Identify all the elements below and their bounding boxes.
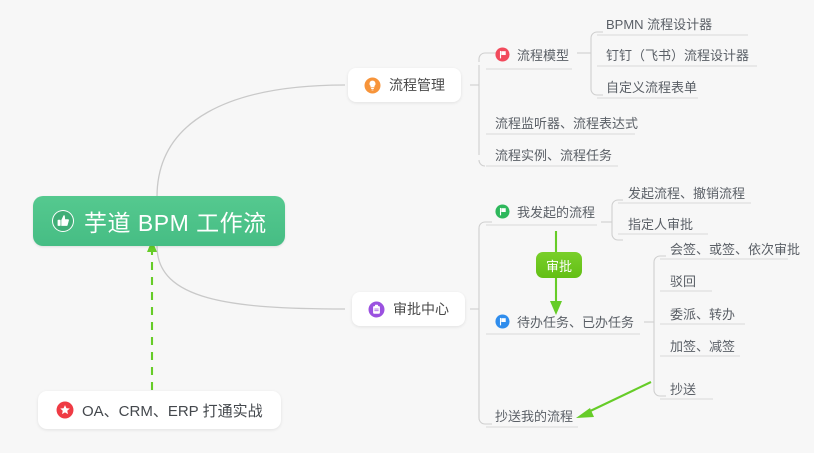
label-add-remove-sign: 加签、减签 bbox=[670, 336, 735, 355]
label-listener-expression: 流程监听器、流程表达式 bbox=[495, 113, 638, 132]
leaf-dingtalk-feishu-designer[interactable]: 钉钉（飞书）流程设计器 bbox=[600, 43, 755, 68]
branch-node-approval-center[interactable]: 审批中心 bbox=[352, 292, 465, 326]
flag-icon-green bbox=[495, 204, 510, 219]
flag-icon-red bbox=[495, 47, 510, 62]
label-reject: 驳回 bbox=[670, 271, 696, 290]
label-delegate-transfer: 委派、转办 bbox=[670, 304, 735, 323]
clipboard-icon bbox=[368, 301, 385, 318]
node-process-model[interactable]: 流程模型 bbox=[489, 43, 575, 68]
label-cc-to-me-process: 抄送我的流程 bbox=[495, 406, 573, 425]
standalone-label-integration-practice: OA、CRM、ERP 打通实战 bbox=[82, 400, 263, 421]
root-node[interactable]: 芋道 BPM 工作流 bbox=[33, 196, 285, 246]
leaf-reject[interactable]: 驳回 bbox=[664, 269, 702, 294]
leaf-cc[interactable]: 抄送 bbox=[664, 377, 702, 402]
node-listener-expression[interactable]: 流程监听器、流程表达式 bbox=[489, 111, 644, 136]
flag-icon-blue bbox=[495, 314, 510, 329]
approval-badge[interactable]: 审批 bbox=[536, 252, 582, 278]
star-icon-red bbox=[56, 401, 74, 419]
label-cc: 抄送 bbox=[670, 379, 696, 398]
node-my-started-process[interactable]: 我发起的流程 bbox=[489, 200, 601, 225]
label-todo-done-task: 待办任务、已办任务 bbox=[517, 312, 634, 331]
label-countersign: 会签、或签、依次审批 bbox=[670, 239, 800, 258]
branch-node-process-management[interactable]: 流程管理 bbox=[348, 68, 461, 102]
leaf-add-remove-sign[interactable]: 加签、减签 bbox=[664, 334, 741, 359]
label-dingtalk-feishu-designer: 钉钉（飞书）流程设计器 bbox=[606, 45, 749, 64]
mindmap-canvas: 芋道 BPM 工作流 流程管理 流程模型 BPMN 流程设计器 钉钉（飞书）流程 bbox=[0, 0, 814, 453]
branch-label-approval-center: 审批中心 bbox=[393, 299, 449, 319]
standalone-node-integration-practice[interactable]: OA、CRM、ERP 打通实战 bbox=[38, 391, 281, 429]
label-my-started-process: 我发起的流程 bbox=[517, 202, 595, 221]
root-label: 芋道 BPM 工作流 bbox=[84, 204, 267, 238]
leaf-bpmn-designer[interactable]: BPMN 流程设计器 bbox=[600, 12, 718, 37]
leaf-countersign[interactable]: 会签、或签、依次审批 bbox=[664, 237, 806, 262]
leaf-delegate-transfer[interactable]: 委派、转办 bbox=[664, 302, 741, 327]
branch-label-process-management: 流程管理 bbox=[389, 75, 445, 95]
lightbulb-icon bbox=[364, 77, 381, 94]
node-cc-to-me-process[interactable]: 抄送我的流程 bbox=[489, 404, 579, 429]
label-instance-task: 流程实例、流程任务 bbox=[495, 145, 612, 164]
label-custom-process-form: 自定义流程表单 bbox=[606, 77, 697, 96]
label-bpmn-designer: BPMN 流程设计器 bbox=[606, 14, 712, 33]
leaf-custom-process-form[interactable]: 自定义流程表单 bbox=[600, 75, 703, 100]
leaf-assignee-approval[interactable]: 指定人审批 bbox=[622, 212, 699, 237]
label-process-model: 流程模型 bbox=[517, 45, 569, 64]
label-start-cancel-process: 发起流程、撤销流程 bbox=[628, 183, 745, 202]
approval-badge-label: 审批 bbox=[546, 256, 572, 275]
thumbs-up-icon bbox=[51, 209, 75, 233]
label-assignee-approval: 指定人审批 bbox=[628, 214, 693, 233]
node-instance-task[interactable]: 流程实例、流程任务 bbox=[489, 143, 618, 168]
node-todo-done-task[interactable]: 待办任务、已办任务 bbox=[489, 310, 640, 335]
leaf-start-cancel-process[interactable]: 发起流程、撤销流程 bbox=[622, 181, 751, 206]
